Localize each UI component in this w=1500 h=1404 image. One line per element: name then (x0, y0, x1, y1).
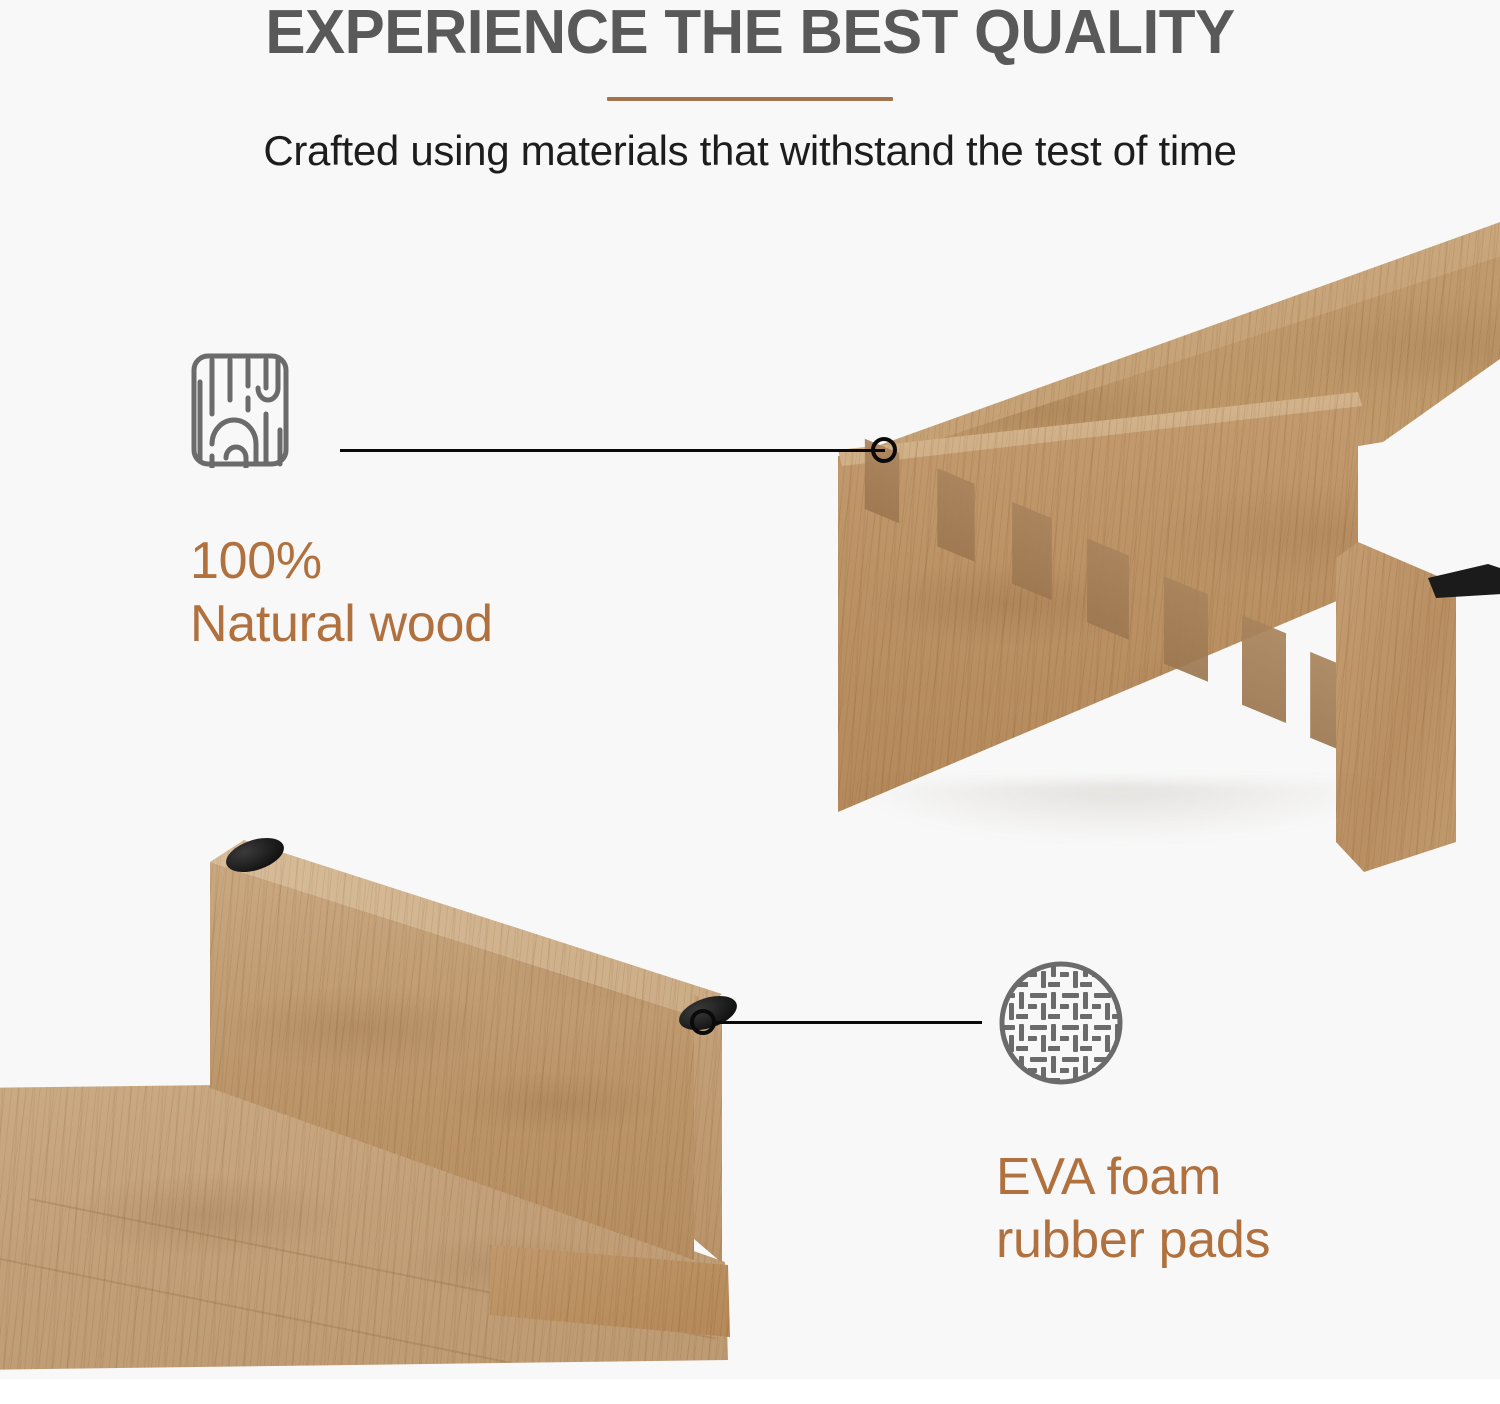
feature-label-eva-foam: EVA foam rubber pads (996, 1146, 1270, 1273)
header: EXPERIENCE THE BEST QUALITY Crafted usin… (0, 0, 1500, 175)
feature-eva-foam: EVA foam rubber pads (996, 958, 1270, 1273)
product-photo-top-shelf (838, 212, 1500, 892)
foam-weave-icon (996, 958, 1126, 1088)
wood-grain-icon (190, 352, 290, 468)
callout-line-eva-foam (712, 1021, 982, 1024)
dovetail-joint-group (838, 402, 1398, 842)
page-title: EXPERIENCE THE BEST QUALITY (23, 0, 1478, 64)
product-photo-bottom-shelf (0, 830, 760, 1379)
infographic-canvas: EXPERIENCE THE BEST QUALITY Crafted usin… (0, 0, 1500, 1379)
callout-marker-rubber-pad (690, 1009, 716, 1035)
callout-marker-dovetail-joint (871, 437, 897, 463)
page-subtitle: Crafted using materials that withstand t… (0, 127, 1500, 175)
feature-label-natural-wood: 100% Natural wood (190, 530, 493, 657)
wall-bracket-icon (1428, 564, 1500, 598)
feature-natural-wood: 100% Natural wood (190, 352, 493, 657)
title-divider (607, 97, 893, 101)
shelf-shadow (848, 782, 1388, 842)
